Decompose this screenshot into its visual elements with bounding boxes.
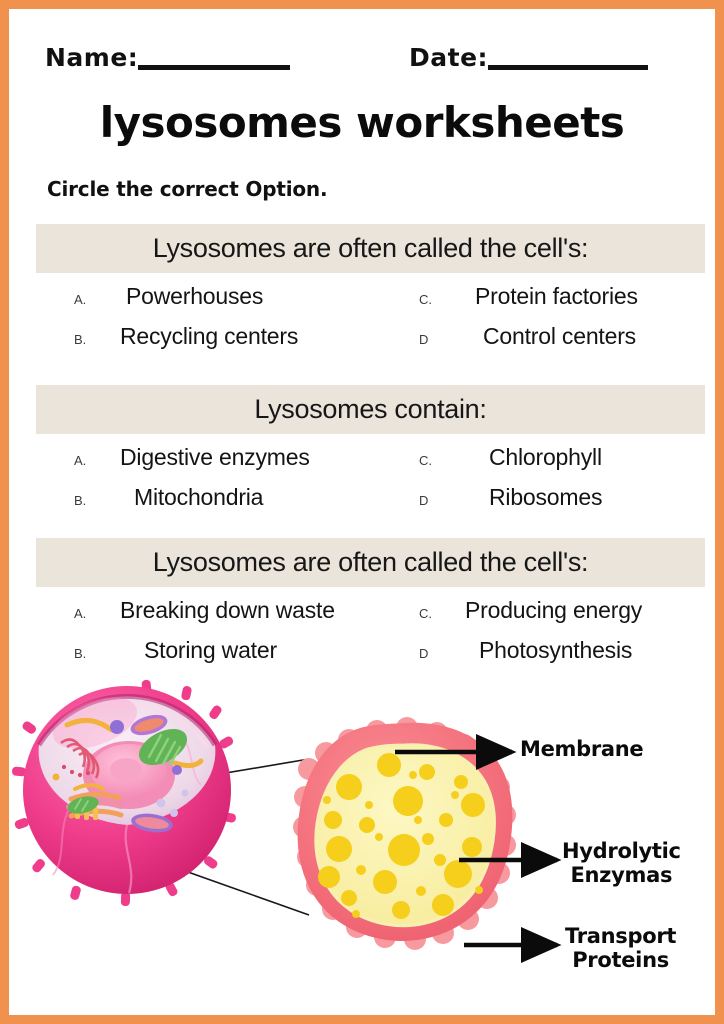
worksheet-page: Name: Date: lysosomes worksheets Circle …: [0, 0, 724, 1024]
option-label: Recycling centers: [120, 323, 298, 350]
option-b[interactable]: B. Recycling centers: [74, 323, 298, 350]
option-letter: A.: [74, 292, 120, 307]
date-field[interactable]: Date:: [409, 31, 648, 73]
options-group: A. Breaking down waste B. Storing water …: [36, 597, 705, 681]
label-membrane-text: Membrane: [520, 737, 643, 761]
question-banner: Lysosomes contain:: [36, 385, 705, 434]
option-letter: B.: [74, 646, 120, 661]
option-a[interactable]: A. Breaking down waste: [74, 597, 335, 624]
date-label: Date:: [409, 45, 488, 73]
option-d[interactable]: D Photosynthesis: [419, 637, 618, 664]
option-b[interactable]: B. Storing water: [74, 637, 253, 664]
option-letter: C.: [419, 606, 465, 621]
option-label: Mitochondria: [134, 484, 263, 511]
option-letter: A.: [74, 453, 120, 468]
option-label: Powerhouses: [126, 283, 263, 310]
label-transport-line1: Transport: [565, 924, 676, 948]
question-block-2: Lysosomes contain: A. Digestive enzymes …: [36, 385, 705, 528]
question-block-3: Lysosomes are often called the cell's: A…: [36, 538, 705, 681]
options-group: A. Powerhouses B. Recycling centers C. P…: [36, 283, 705, 367]
option-label: Ribosomes: [489, 484, 602, 511]
name-label: Name:: [45, 45, 138, 73]
nucleolus: [110, 758, 142, 782]
option-label: Protein factories: [475, 283, 638, 310]
question-banner: Lysosomes are often called the cell's:: [36, 224, 705, 273]
label-hydrolytic-enzymes: Hydrolytic Enzymas: [562, 840, 681, 887]
option-d[interactable]: D Ribosomes: [419, 484, 578, 511]
date-write-line[interactable]: [488, 65, 648, 70]
option-a[interactable]: A. Digestive enzymes: [74, 444, 310, 471]
header-fields: Name: Date:: [9, 31, 715, 75]
cell-lysosome-illustration: Membrane Hydrolytic Enzymas Transport Pr…: [9, 677, 715, 1015]
option-letter: B.: [74, 493, 120, 508]
option-letter: D: [419, 493, 465, 508]
option-letter: A.: [74, 606, 120, 621]
option-label: Control centers: [483, 323, 636, 350]
option-a[interactable]: A. Powerhouses: [74, 283, 257, 310]
name-write-line[interactable]: [138, 65, 290, 70]
option-c[interactable]: C. Producing energy: [419, 597, 642, 624]
option-label: Breaking down waste: [120, 597, 335, 624]
question-prompt: Lysosomes contain:: [254, 396, 486, 423]
label-transport-proteins: Transport Proteins: [565, 925, 676, 972]
option-label: Chlorophyll: [489, 444, 602, 471]
question-prompt: Lysosomes are often called the cell's:: [153, 549, 589, 576]
label-enzymes-line1: Hydrolytic: [562, 839, 681, 863]
option-b[interactable]: B. Mitochondria: [74, 484, 249, 511]
option-letter: C.: [419, 453, 465, 468]
option-c[interactable]: C. Chlorophyll: [419, 444, 578, 471]
label-membrane: Membrane: [520, 738, 643, 762]
option-label: Producing energy: [465, 597, 642, 624]
option-letter: D: [419, 332, 465, 347]
option-d[interactable]: D Control centers: [419, 323, 618, 350]
option-label: Digestive enzymes: [120, 444, 310, 471]
page-title: lysosomes worksheets: [9, 102, 715, 144]
instruction-text: Circle the correct Option.: [47, 177, 327, 201]
option-letter: B.: [74, 332, 120, 347]
question-prompt: Lysosomes are often called the cell's:: [153, 235, 589, 262]
option-label: Photosynthesis: [479, 637, 632, 664]
question-banner: Lysosomes are often called the cell's:: [36, 538, 705, 587]
option-c[interactable]: C. Protein factories: [419, 283, 628, 310]
options-group: A. Digestive enzymes B. Mitochondria C. …: [36, 444, 705, 528]
option-label: Storing water: [144, 637, 277, 664]
name-field[interactable]: Name:: [45, 31, 290, 73]
option-letter: D: [419, 646, 465, 661]
label-transport-line2: Proteins: [572, 948, 669, 972]
question-block-1: Lysosomes are often called the cell's: A…: [36, 224, 705, 367]
animal-cell-model: [12, 680, 237, 907]
label-enzymes-line2: Enzymas: [570, 863, 672, 887]
option-letter: C.: [419, 292, 465, 307]
